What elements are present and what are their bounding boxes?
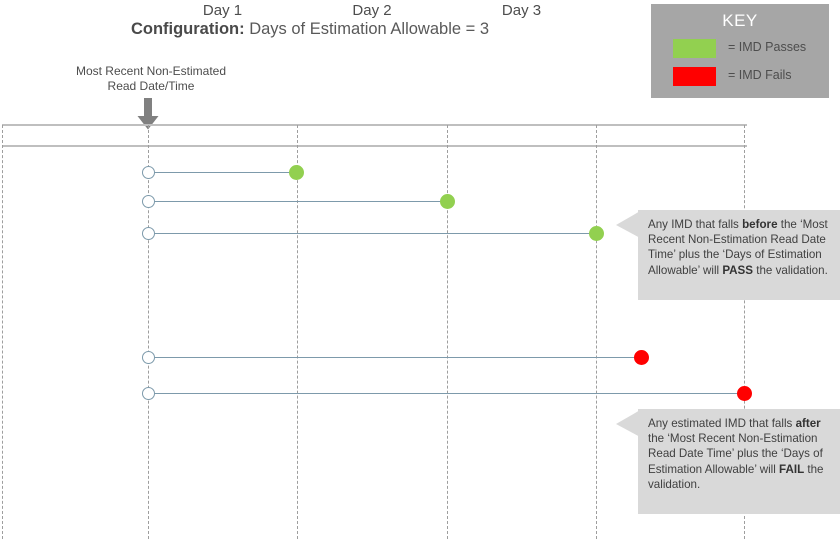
gridline-1 <box>148 125 149 539</box>
timeline-start-marker-imd-pass-day1 <box>142 166 155 179</box>
gridline-3 <box>447 125 448 539</box>
legend-label-fail: = IMD Fails <box>728 68 792 82</box>
gridline-2 <box>297 125 298 539</box>
legend-label-pass: = IMD Passes <box>728 40 806 54</box>
timeline-line-imd-fail-a <box>148 357 641 358</box>
timeline-start-marker-imd-fail-a <box>142 351 155 364</box>
imd-dot-imd-pass-day1 <box>289 165 304 180</box>
timeline-start-marker-imd-pass-day3 <box>142 227 155 240</box>
imd-dot-imd-pass-day3 <box>589 226 604 241</box>
legend-key-box: KEY = IMD Passes = IMD Fails <box>651 4 829 98</box>
callout-pass-text-1: Any IMD that falls <box>648 218 742 231</box>
callout-fail: Any estimated IMD that falls after the ‘… <box>638 409 840 514</box>
callout-pass-text-3: the validation. <box>753 264 828 277</box>
timeline-start-marker-imd-pass-day2 <box>142 195 155 208</box>
source-annotation: Most Recent Non-Estimated Read Date/Time <box>57 64 245 94</box>
legend-item-pass: = IMD Passes <box>673 39 823 59</box>
legend-swatch-pass <box>673 39 716 58</box>
source-annotation-line1: Most Recent Non-Estimated <box>57 64 245 79</box>
timeline-start-marker-imd-fail-b <box>142 387 155 400</box>
callout-fail-text-1: Any estimated IMD that falls <box>648 417 796 430</box>
gridline-4 <box>596 125 597 539</box>
imd-dot-imd-fail-a <box>634 350 649 365</box>
callout-fail-bold-1: after <box>796 417 821 430</box>
legend-item-fail: = IMD Fails <box>673 67 823 87</box>
legend-swatch-fail <box>673 67 716 86</box>
page-title: Configuration: Days of Estimation Allowa… <box>0 20 620 39</box>
config-title-value: Days of Estimation Allowable = 3 <box>249 20 489 38</box>
callout-pass-bold-1: before <box>742 218 777 231</box>
imd-dot-imd-pass-day2 <box>440 194 455 209</box>
callout-pass: Any IMD that falls before the ‘Most Rece… <box>638 210 840 300</box>
callout-pass-bold-2: PASS <box>722 264 753 277</box>
callout-pass-tail-icon <box>616 209 642 251</box>
timeline-line-imd-pass-day1 <box>148 172 296 173</box>
callout-fail-tail-icon <box>616 408 642 450</box>
legend-heading: KEY <box>651 11 829 31</box>
config-title-label: Configuration: <box>131 20 245 38</box>
diagram-canvas: Configuration: Days of Estimation Allowa… <box>0 0 840 539</box>
timeline-line-imd-fail-b <box>148 393 744 394</box>
day-label-2: Day 2 <box>297 2 447 19</box>
source-annotation-line2: Read Date/Time <box>57 79 245 94</box>
gridline-0 <box>2 125 3 539</box>
day-label-1: Day 1 <box>148 2 297 19</box>
day-axis-band <box>2 124 747 147</box>
day-label-3: Day 3 <box>447 2 596 19</box>
imd-dot-imd-fail-b <box>737 386 752 401</box>
timeline-line-imd-pass-day3 <box>148 233 596 234</box>
timeline-line-imd-pass-day2 <box>148 201 447 202</box>
callout-fail-bold-2: FAIL <box>779 463 804 476</box>
